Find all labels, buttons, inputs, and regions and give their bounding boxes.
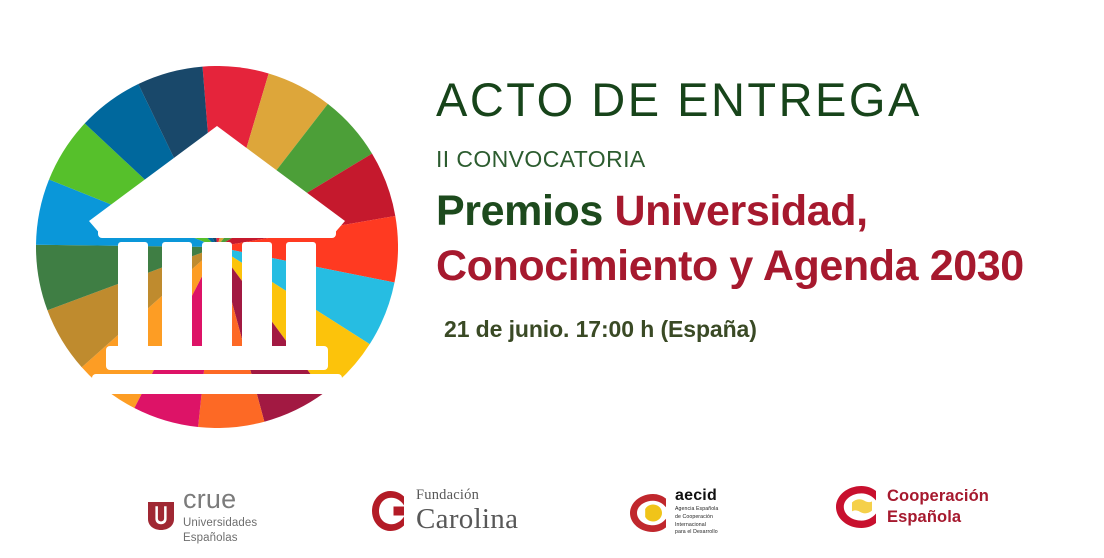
poster-canvas: ACTO DE ENTREGA II CONVOCATORIA Premios … <box>0 0 1104 558</box>
aecid-subtitle-line2: de Cooperación <box>675 514 718 522</box>
logo-crue: crue Universidades Españolas <box>148 486 257 546</box>
cooperacion-line1: Cooperación <box>887 486 989 507</box>
carolina-fundacion-label: Fundación <box>416 488 518 503</box>
cooperacion-espanola-wordmark: Cooperación Española <box>887 486 989 528</box>
crue-shield-icon <box>148 502 174 530</box>
award-title-line2: Conocimiento y Agenda 2030 <box>436 239 1076 294</box>
cooperacion-line2: Española <box>887 507 989 528</box>
award-title-premios: Premios <box>436 187 603 235</box>
award-title-universidad: Universidad, <box>614 187 867 235</box>
page-title: ACTO DE ENTREGA <box>436 76 1076 124</box>
aecid-subtitle-line3: Internacional <box>675 522 718 530</box>
crue-subtitle-line1: Universidades <box>183 516 257 531</box>
edition-kicker: II CONVOCATORIA <box>436 146 1076 173</box>
carolina-c-icon <box>372 491 406 531</box>
sponsor-logo-bar: crue Universidades Españolas Fundación C… <box>0 482 1104 558</box>
event-datetime: 21 de junio. 17:00 h (España) <box>444 316 1076 343</box>
carolina-name: Carolina <box>416 504 518 534</box>
aecid-name: aecid <box>675 488 718 504</box>
sdg-color-wheel-with-classical-building-icon <box>36 66 398 428</box>
aecid-c-icon <box>630 494 668 532</box>
poster-text-block: ACTO DE ENTREGA II CONVOCATORIA Premios … <box>436 76 1076 343</box>
logo-fundacion-carolina: Fundación Carolina <box>372 488 518 534</box>
crue-subtitle-line2: Españolas <box>183 531 257 546</box>
crue-subtitle: Universidades Españolas <box>183 516 257 546</box>
carolina-wordmark: Fundación Carolina <box>416 488 518 534</box>
award-title: Premios Universidad, Conocimiento y Agen… <box>436 184 1076 294</box>
aecid-wordmark: aecid Agencia Española de Cooperación In… <box>675 488 718 537</box>
crue-name: crue <box>183 486 257 513</box>
aecid-subtitle: Agencia Española de Cooperación Internac… <box>675 506 718 537</box>
aecid-subtitle-line1: Agencia Española <box>675 506 718 514</box>
crue-wordmark: crue Universidades Españolas <box>183 486 257 546</box>
logo-aecid: aecid Agencia Española de Cooperación In… <box>630 488 718 537</box>
aecid-subtitle-line4: para el Desarrollo <box>675 529 718 537</box>
cooperacion-espanola-c-icon <box>836 486 878 528</box>
logo-cooperacion-espanola: Cooperación Española <box>836 486 989 528</box>
